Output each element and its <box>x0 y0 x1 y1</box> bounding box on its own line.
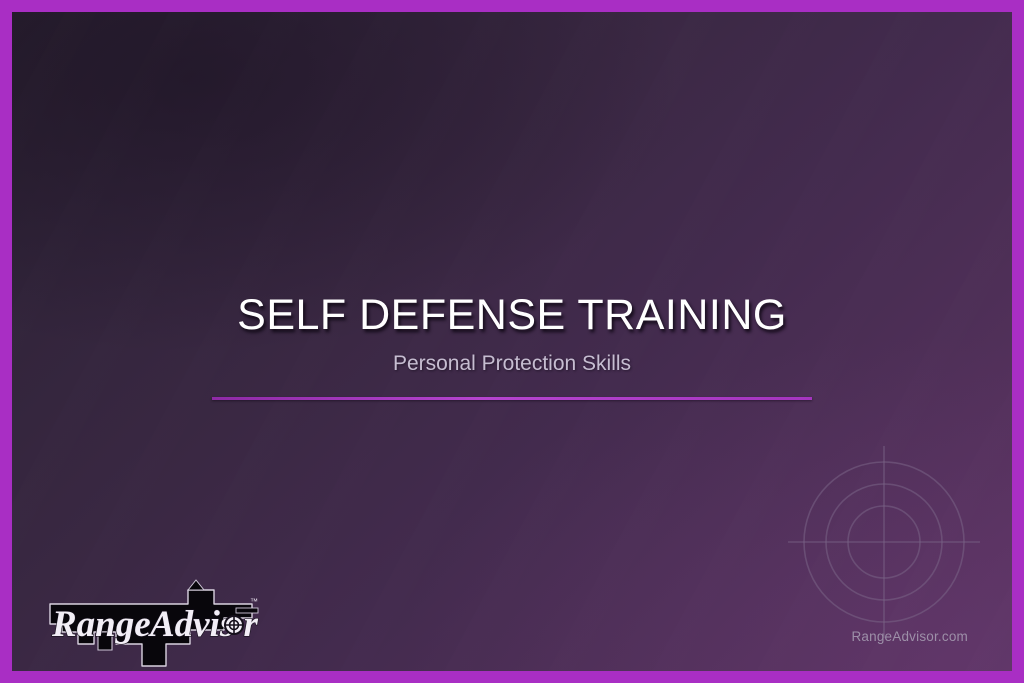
page-subtitle: Personal Protection Skills <box>12 352 1012 375</box>
brand-wordmark: Range Advis r ™ <box>51 597 259 645</box>
presentation-slide: SELF DEFENSE TRAINING Personal Protectio… <box>0 0 1024 683</box>
brand-logo[interactable]: Range Advis r ™ <box>38 574 264 672</box>
page-title: SELF DEFENSE TRAINING <box>12 293 1012 338</box>
title-divider <box>212 397 812 400</box>
crosshair-icon <box>224 615 244 635</box>
svg-text:Range: Range <box>51 604 151 645</box>
trademark-symbol: ™ <box>250 597 258 606</box>
footer-website-url: RangeAdvisor.com <box>851 629 968 644</box>
slide-title-block: SELF DEFENSE TRAINING Personal Protectio… <box>12 293 1012 400</box>
